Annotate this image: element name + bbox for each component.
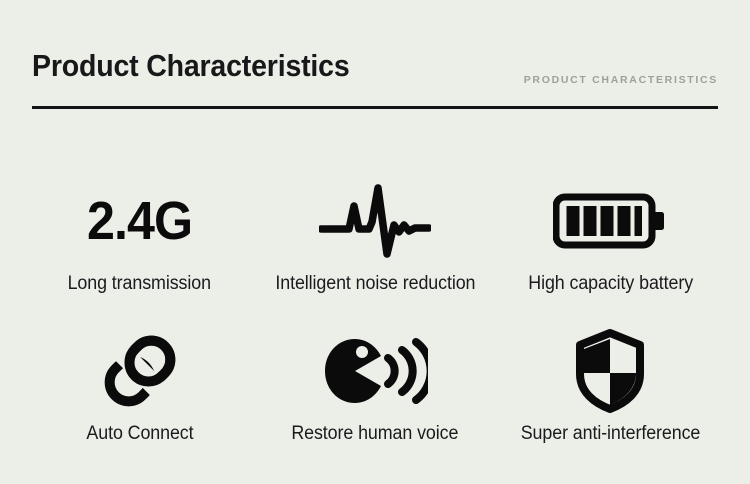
page-title: Product Characteristics [32,48,350,84]
pulse-waveform-icon [319,168,431,273]
feature-item: 2.4G Long transmission [22,168,257,318]
feature-item: Auto Connect [22,318,257,468]
text-2-4g-icon-label: 2.4G [87,194,192,248]
product-characteristics-panel: Product Characteristics PRODUCT CHARACTE… [0,0,750,484]
talking-head-sound-waves-icon [322,318,428,423]
header: Product Characteristics PRODUCT CHARACTE… [32,48,718,118]
feature-label: Auto Connect [86,423,193,445]
shield-icon [574,318,646,423]
feature-label: Intelligent noise reduction [275,273,475,295]
feature-label: Long transmission [68,273,211,295]
feature-item: Intelligent noise reduction [257,168,492,318]
feature-label: Super anti-interference [521,423,701,445]
feature-item: Restore human voice [257,318,492,468]
page-subtitle: PRODUCT CHARACTERISTICS [524,74,718,86]
feature-item: High capacity battery [493,168,728,318]
text-2-4g-icon: 2.4G [83,168,196,273]
feature-item: Super anti-interference [493,318,728,468]
feature-grid: 2.4G Long transmission Intelligent noise… [22,168,728,468]
header-divider [32,106,718,109]
battery-full-icon [553,168,667,273]
feature-label: High capacity battery [528,273,693,295]
chain-link-icon [97,318,183,423]
feature-label: Restore human voice [292,423,459,445]
